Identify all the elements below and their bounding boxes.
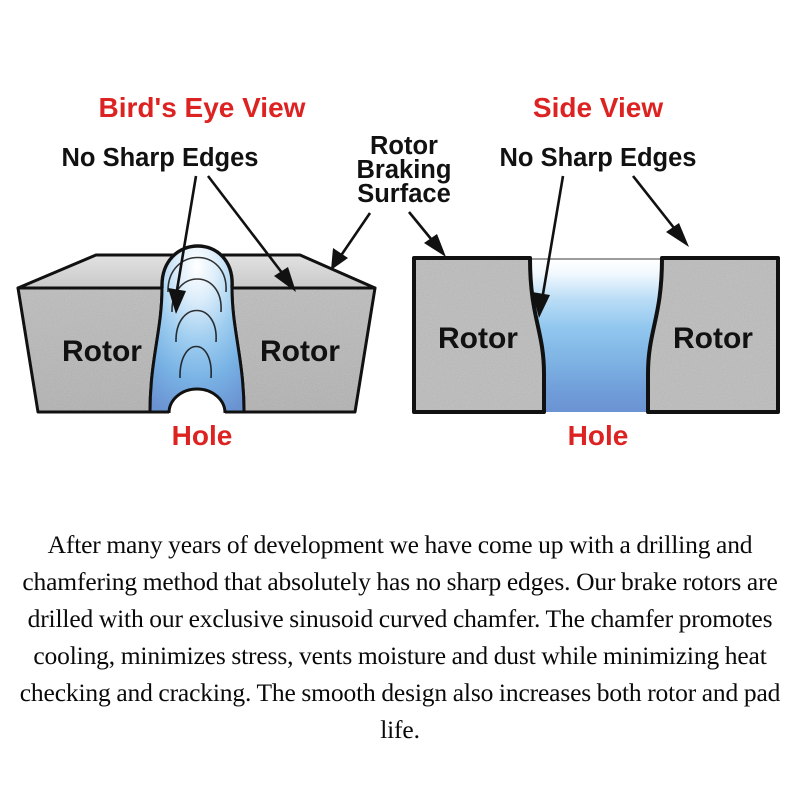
birds-eye-no-sharp-edges-label: No Sharp Edges — [62, 144, 259, 172]
leader-arrow-rotor-braking-surface-left — [331, 213, 370, 270]
rotor-braking-surface-line-3: Surface — [357, 180, 451, 208]
rotor-chamfer-illustration: Bird's Eye View No Sharp Edges Rotor Bra… — [0, 0, 800, 490]
birds-eye-view-title: Bird's Eye View — [99, 92, 306, 123]
birds-eye-view-group: Bird's Eye View No Sharp Edges Rotor Bra… — [18, 92, 451, 451]
side-view-rotor-right-text: Rotor — [673, 322, 753, 355]
leader-arrow-rotor-braking-surface-right — [409, 212, 446, 257]
birds-eye-rotor-right-text: Rotor — [260, 335, 340, 368]
caption-paragraph: After many years of development we have … — [0, 526, 800, 748]
side-view-hole-label: Hole — [568, 420, 629, 451]
side-view-title: Side View — [533, 92, 663, 123]
rotor-braking-surface-label: Rotor Braking Surface — [357, 132, 452, 208]
side-view-group: Side View No Sharp Edges Rotor Rotor Hol… — [409, 92, 778, 451]
side-view-leader-arrow-right-chamfer — [633, 176, 689, 247]
diagram-page: Bird's Eye View No Sharp Edges Rotor Bra… — [0, 0, 800, 800]
side-view-rotor-left-text: Rotor — [438, 322, 518, 355]
birds-eye-rotor-left-text: Rotor — [62, 335, 142, 368]
birds-eye-hole-label: Hole — [172, 420, 233, 451]
side-view-no-sharp-edges-label: No Sharp Edges — [500, 144, 697, 172]
diagram-area: Bird's Eye View No Sharp Edges Rotor Bra… — [0, 0, 800, 490]
